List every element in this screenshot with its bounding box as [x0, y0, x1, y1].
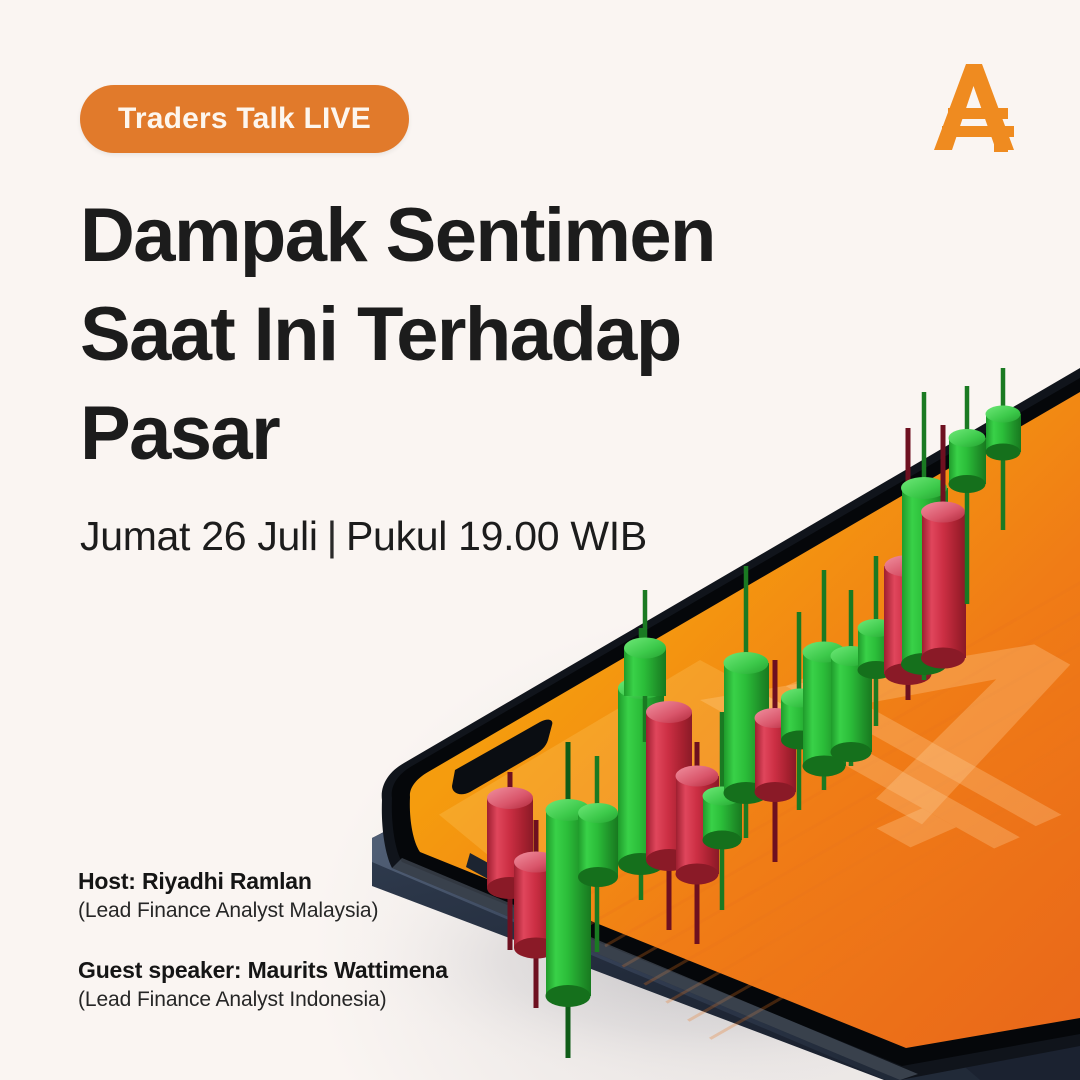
guest-name: Guest speaker: Maurits Wattimena — [78, 955, 448, 985]
schedule-time: Pukul 19.00 WIB — [346, 513, 647, 559]
headline-line-3: Pasar — [80, 384, 800, 483]
guest-role: (Lead Finance Analyst Indonesia) — [78, 985, 448, 1014]
host-credit: Host: Riyadhi Ramlan (Lead Finance Analy… — [78, 866, 448, 925]
page-title: Dampak Sentimen Saat Ini Terhadap Pasar — [80, 186, 800, 483]
poster-canvas: Traders Talk LIVE Dampak Sentimen Saat I… — [0, 0, 1080, 1080]
schedule-separator: | — [318, 513, 346, 559]
guest-credit: Guest speaker: Maurits Wattimena (Lead F… — [78, 955, 448, 1014]
traders-talk-live-badge[interactable]: Traders Talk LIVE — [80, 85, 409, 153]
headline-line-1: Dampak Sentimen — [80, 186, 800, 285]
host-name: Host: Riyadhi Ramlan — [78, 866, 448, 896]
schedule-line: Jumat 26 Juli|Pukul 19.00 WIB — [80, 513, 647, 560]
schedule-date: Jumat 26 Juli — [80, 513, 318, 559]
headline-line-2: Saat Ini Terhadap — [80, 285, 800, 384]
brand-a-logo-icon — [930, 62, 1026, 154]
credits-block: Host: Riyadhi Ramlan (Lead Finance Analy… — [78, 866, 448, 1014]
host-role: (Lead Finance Analyst Malaysia) — [78, 896, 448, 925]
badge-label: Traders Talk LIVE — [118, 102, 371, 136]
